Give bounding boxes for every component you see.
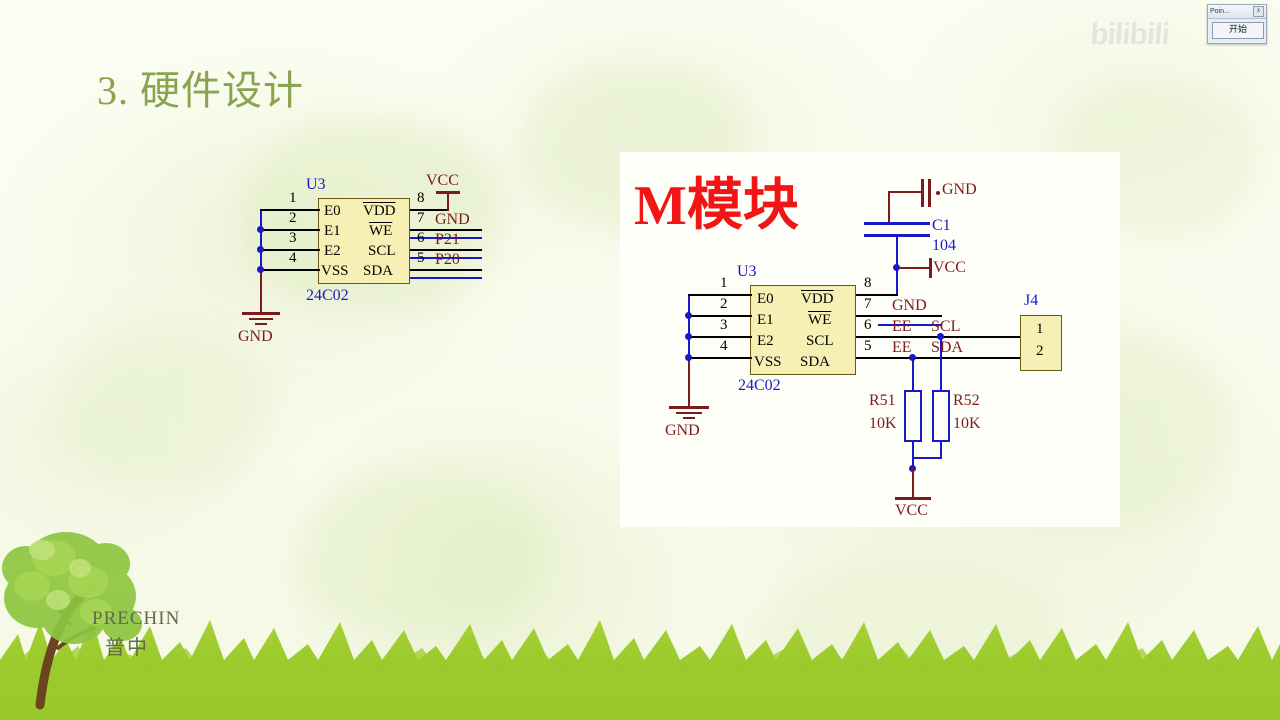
capacitor-refdes-c1: C1 — [932, 217, 951, 235]
logo-text-chinese: 普中 — [105, 631, 149, 660]
net-label-p20: P20 — [435, 251, 460, 269]
pin-name-vdd: VDD — [801, 291, 834, 308]
connector-pin-1: 1 — [1036, 321, 1044, 338]
connector-refdes-j4: J4 — [1024, 292, 1038, 310]
bus-top-stub — [260, 209, 282, 211]
pin-number-5: 5 — [864, 338, 872, 355]
bus-vertical-right — [688, 294, 690, 359]
junction-dot — [257, 266, 264, 273]
pin-name-e2: E2 — [324, 243, 341, 260]
resistor-body-r52 — [932, 390, 950, 442]
ground-stem-left — [260, 269, 262, 313]
net-label-p21: P21 — [435, 231, 460, 249]
connector-pin-2: 2 — [1036, 343, 1044, 360]
net-label-vcc-cap: VCC — [933, 259, 966, 277]
pin-name-we: WE — [808, 312, 831, 329]
pin-number-2: 2 — [289, 210, 297, 227]
resistor-value-r52: 10K — [953, 415, 981, 433]
pin-number-7: 7 — [864, 296, 872, 313]
junction-dot — [257, 226, 264, 233]
pin-name-scl: SCL — [806, 333, 834, 350]
bus-top-stub — [688, 294, 712, 296]
junction-dot — [937, 333, 944, 340]
ground-bar-wide — [242, 312, 280, 315]
resistor-refdes-r51: R51 — [869, 392, 896, 410]
resistor-value-r51: 10K — [869, 415, 897, 433]
pin-wire-4 — [260, 269, 320, 271]
vcc-bar-left — [436, 191, 460, 194]
pin-name-vss: VSS — [754, 354, 782, 371]
pin-wire-1 — [282, 209, 320, 211]
junction-dot — [685, 333, 692, 340]
bus-vertical-left — [260, 209, 262, 271]
cap-gnd-bar-2 — [928, 179, 931, 207]
page-title: 3. 硬件设计 — [97, 58, 304, 116]
pin-wire-4 — [688, 357, 752, 359]
pin-name-vss: VSS — [321, 263, 349, 280]
pin-wire-6 — [856, 336, 1036, 338]
junction-dot — [257, 246, 264, 253]
net-label-ee-sda-b: SDA — [931, 339, 963, 357]
net-wire-p20 — [410, 277, 482, 279]
right-refdes-u3: U3 — [737, 263, 757, 281]
capacitor-plate-top — [864, 222, 930, 225]
pin-wire-1 — [712, 294, 752, 296]
ground-bar-wide — [669, 406, 709, 409]
pin-number-8: 8 — [864, 275, 872, 292]
ground-label-right: GND — [665, 422, 700, 440]
junction-dot — [685, 312, 692, 319]
vcc-stem-left — [447, 193, 449, 211]
net-label-gnd-right: GND — [892, 297, 927, 315]
cap-gnd-dot — [936, 191, 940, 195]
ground-bar-mid — [249, 318, 273, 320]
net-label-ee-scl-a: EE — [892, 318, 912, 336]
net-label-ee-sda-a: EE — [892, 339, 912, 357]
pin-number-7: 7 — [417, 210, 425, 227]
pin-number-1: 1 — [289, 190, 297, 207]
cap-gnd-lead — [888, 191, 922, 193]
mini-window-titlebar: Poin... x — [1208, 5, 1266, 19]
pin-number-4: 4 — [289, 250, 297, 267]
ground-bar-small — [255, 323, 267, 325]
pin-name-e2: E2 — [757, 333, 774, 350]
close-icon[interactable]: x — [1253, 6, 1264, 17]
logo-text-english: PRECHIN — [92, 608, 180, 630]
pin-name-we: WE — [369, 223, 392, 240]
pin-name-scl: SCL — [368, 243, 396, 260]
ground-label-left: GND — [238, 328, 273, 346]
pin-number-3: 3 — [289, 230, 297, 247]
net-label-vcc-left: VCC — [426, 172, 459, 190]
floating-mini-window[interactable]: Poin... x 开始 — [1207, 4, 1267, 44]
pin-number-2: 2 — [720, 296, 728, 313]
pin-wire-5 — [410, 269, 482, 271]
pin-name-e0: E0 — [324, 203, 341, 220]
pin-number-3: 3 — [720, 317, 728, 334]
vcc-bar-bottom — [895, 497, 931, 500]
net-label-vcc-bottom: VCC — [895, 502, 928, 520]
ground-bar-small — [683, 417, 695, 419]
junction-dot — [685, 354, 692, 361]
net-label-gnd-cap: GND — [942, 181, 977, 199]
pin-number-6: 6 — [417, 230, 425, 247]
pin-name-sda: SDA — [363, 263, 393, 280]
ground-bar-mid — [676, 412, 702, 414]
left-refdes-u3: U3 — [306, 176, 326, 194]
slide-canvas: 3. 硬件设计 bilibili Poin... x 开始 U3 24C02 E… — [0, 0, 1280, 720]
mini-window-body: 开始 — [1208, 19, 1266, 42]
pin-number-8: 8 — [417, 190, 425, 207]
start-button[interactable]: 开始 — [1212, 22, 1264, 39]
pin-number-4: 4 — [720, 338, 728, 355]
mini-window-title: Poin... — [1210, 5, 1230, 18]
schematic-left: U3 24C02 E0 E1 E2 VSS VDD WE SCL SDA GND… — [230, 165, 510, 365]
pin-wire-5 — [856, 357, 1036, 359]
pin8-riser — [896, 268, 898, 294]
pin-name-e1: E1 — [757, 312, 774, 329]
pin-name-sda: SDA — [800, 354, 830, 371]
vcc-stem-bottom — [912, 468, 914, 498]
right-image-panel: M模块 GND C1 104 VCC U3 24C0 — [620, 152, 1120, 527]
resistor-body-r51 — [904, 390, 922, 442]
r52-bottom-lead — [940, 442, 942, 458]
net-label-gnd-left: GND — [435, 211, 470, 229]
junction-dot — [909, 354, 916, 361]
pin-number-6: 6 — [864, 317, 872, 334]
pin-name-e1: E1 — [324, 223, 341, 240]
resistor-refdes-r52: R52 — [953, 392, 980, 410]
cap-gnd-bar-1 — [921, 179, 924, 207]
pin-name-e0: E0 — [757, 291, 774, 308]
capacitor-value: 104 — [932, 237, 956, 255]
cap-gnd-drop — [888, 191, 890, 223]
right-part-number: 24C02 — [738, 377, 781, 395]
pin-name-vdd: VDD — [363, 203, 396, 220]
pin-number-1: 1 — [720, 275, 728, 292]
schematic-right: GND C1 104 VCC U3 24C02 E0 E1 E2 VSS — [620, 152, 1120, 527]
ground-stem-right — [688, 357, 690, 407]
net-label-ee-scl-b: SCL — [931, 318, 960, 336]
left-part-number: 24C02 — [306, 287, 349, 305]
pin-number-5: 5 — [417, 250, 425, 267]
vcc-lead-cap — [900, 267, 930, 269]
pin-wire-8 — [856, 294, 898, 296]
resistor-bottom-join — [912, 457, 942, 459]
